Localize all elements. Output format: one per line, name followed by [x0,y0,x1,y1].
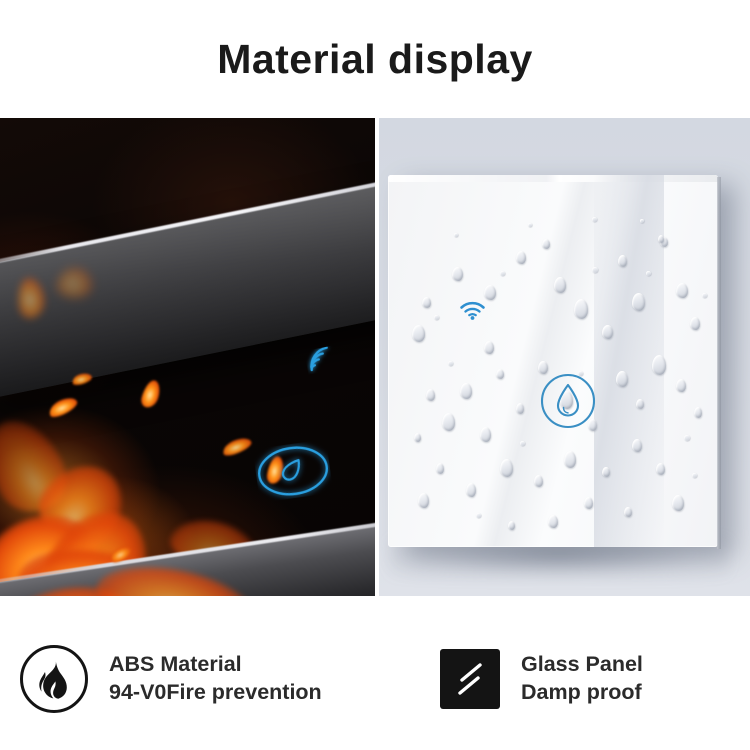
water-droplet [500,459,513,477]
water-droplet [692,473,697,478]
water-droplet [426,389,435,401]
water-droplet [418,493,429,508]
water-droplet [702,293,707,298]
feature-line-1: ABS Material [109,651,322,679]
water-droplet [618,255,627,267]
water-droplet [476,513,481,518]
water-droplet [684,435,690,441]
water-droplet [528,223,532,227]
water-droplet [520,441,525,446]
water-droplet [460,383,472,399]
feature-caption-row: ABS Material 94-V0Fire prevention Glass … [0,608,750,750]
water-droplet [500,271,505,276]
water-droplet [592,217,597,222]
title-bar: Material display [0,0,750,118]
water-droplet [592,267,598,273]
feature-text: Glass Panel Damp proof [521,651,643,707]
water-droplet [480,427,491,442]
water-droplet [652,355,666,375]
water-droplet [658,235,664,243]
water-droplet [454,233,458,237]
water-droplet [694,407,702,418]
water-droplet [434,315,439,320]
page-title: Material display [217,39,533,80]
water-droplet-button-icon[interactable] [539,372,597,430]
water-droplet [602,467,610,477]
feature-line-1: Glass Panel [521,651,643,679]
water-droplet [508,521,515,530]
water-droplet [516,251,526,264]
feature-line-2: Damp proof [521,679,643,707]
water-droplet [534,475,543,487]
water-droplet [632,439,642,452]
water-droplet [616,371,628,387]
water-droplet [516,403,524,414]
water-droplet [602,325,613,339]
water-droplet [442,413,455,431]
water-droplet [484,285,496,300]
water-droplet [632,293,645,311]
water-droplet [554,277,566,293]
glass-shine-square-icon [440,649,500,709]
feature-glass-panel: Glass Panel Damp proof [440,649,750,709]
water-droplet [422,297,431,308]
white-switch-panel [388,175,718,547]
water-droplet [676,379,686,392]
photo-white-glass-panel-water-droplets [379,118,750,596]
product-photo-strip [0,118,750,608]
water-droplet [466,483,476,497]
photo-black-abs-panel-in-flames [0,118,375,596]
water-droplet [414,433,421,442]
water-droplet [584,497,593,509]
water-droplet [656,463,665,475]
water-droplet [484,341,494,354]
water-droplet [564,451,576,468]
water-droplet [452,267,463,281]
feature-abs-material: ABS Material 94-V0Fire prevention [0,645,440,713]
water-droplet [636,399,644,409]
water-droplet [436,463,444,474]
water-droplet [496,369,504,379]
water-droplet [548,515,558,528]
feature-text: ABS Material 94-V0Fire prevention [109,651,322,707]
feature-line-2: 94-V0Fire prevention [109,679,322,707]
flame-circle-icon [20,645,88,713]
water-droplet [574,299,588,319]
water-heater-button-icon[interactable] [253,439,334,503]
water-droplet [624,507,632,517]
water-droplet [690,317,700,330]
water-droplet [412,325,425,342]
water-droplet [676,283,688,298]
wifi-icon [459,300,486,320]
water-droplet [672,495,684,511]
water-droplet [640,219,644,223]
water-droplet [646,271,651,276]
water-droplet [448,361,453,366]
water-droplet [542,239,550,249]
